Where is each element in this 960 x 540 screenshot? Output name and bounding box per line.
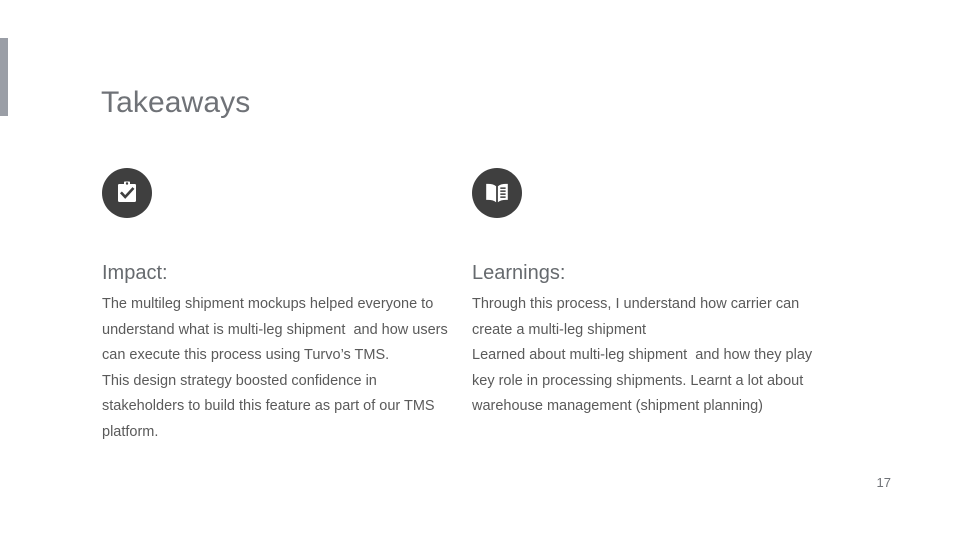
column-heading-impact: Impact: bbox=[102, 260, 462, 286]
slide-canvas: Takeaways Impact: The multileg shipment … bbox=[0, 0, 960, 540]
page-number: 17 bbox=[877, 474, 891, 492]
column-body-impact: The multileg shipment mockups helped eve… bbox=[102, 292, 462, 446]
paragraph: This design strategy boosted confidence … bbox=[102, 369, 462, 446]
paragraph: Learned about multi-leg shipment and how… bbox=[472, 343, 832, 420]
column-body-learnings: Through this process, I understand how c… bbox=[472, 292, 832, 420]
page-title: Takeaways bbox=[101, 83, 250, 123]
clipboard-check-icon bbox=[102, 168, 152, 218]
takeaway-column-learnings: Learnings: Through this process, I under… bbox=[472, 168, 832, 420]
column-heading-learnings: Learnings: bbox=[472, 260, 832, 286]
paragraph: Through this process, I understand how c… bbox=[472, 292, 832, 343]
paragraph: The multileg shipment mockups helped eve… bbox=[102, 292, 462, 369]
open-book-icon bbox=[472, 168, 522, 218]
takeaway-column-impact: Impact: The multileg shipment mockups he… bbox=[102, 168, 462, 446]
